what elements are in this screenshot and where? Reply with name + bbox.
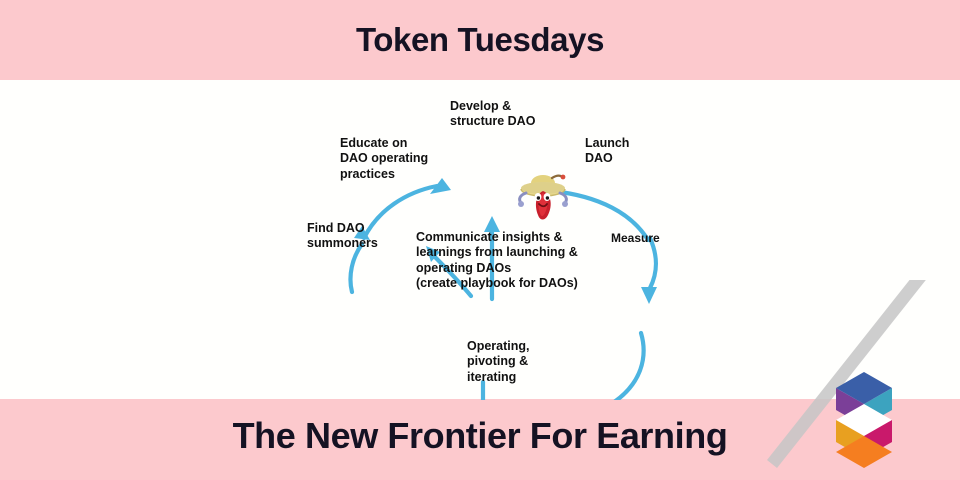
slide-root: Token Tuesdays The New Frontier For Earn… bbox=[0, 0, 960, 480]
arrow-measure-to-operating bbox=[578, 333, 644, 400]
chili-pepper-sombrero-mascot bbox=[512, 163, 574, 225]
arrowhead-measure bbox=[641, 287, 657, 304]
page-title: Token Tuesdays bbox=[0, 21, 960, 59]
node-label-measure: Measure bbox=[611, 231, 660, 246]
node-label-launch: Launch DAO bbox=[585, 136, 629, 167]
node-label-find: Find DAO summoners bbox=[307, 221, 378, 252]
footer-title: The New Frontier For Earning bbox=[0, 415, 960, 457]
node-label-develop: Develop & structure DAO bbox=[450, 99, 535, 130]
node-label-educate: Educate on DAO operating practices bbox=[340, 136, 428, 182]
node-label-operating: Operating, pivoting & iterating bbox=[467, 339, 530, 385]
node-label-communicate: Communicate insights & learnings from la… bbox=[416, 230, 578, 291]
